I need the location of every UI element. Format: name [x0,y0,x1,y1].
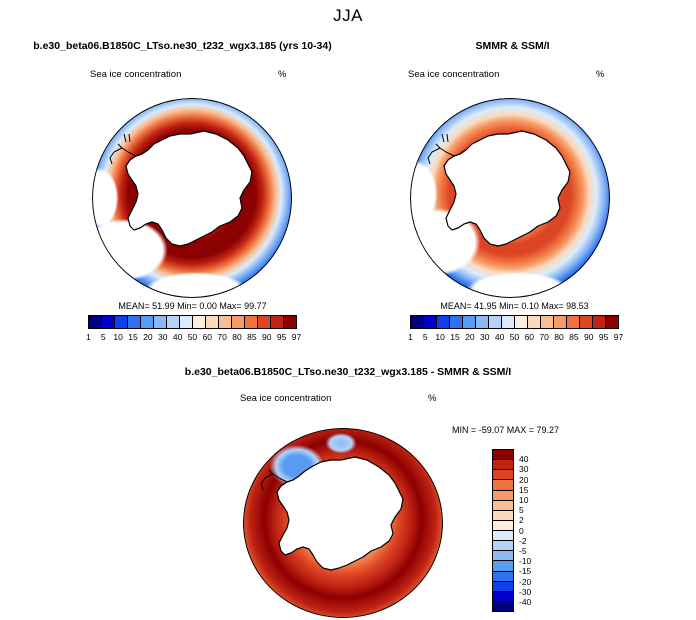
cbar-tick: 60 [200,332,215,342]
cbar-tick: 50 [507,332,522,342]
cbar-tick: -15 [519,567,531,576]
model-panel-title: b.e30_beta06.B1850C_LTso.ne30_t232_wgx3.… [0,40,365,52]
cbar-tick: 95 [274,332,289,342]
cbar-tick: 1 [81,332,96,342]
model-colorbar-ticks: 1 5 10 15 20 30 40 50 60 70 80 85 90 95 … [81,332,304,342]
observations-colorbar-ticks: 1 5 10 15 20 30 40 50 60 70 80 85 90 95 … [403,332,626,342]
cbar-tick: -30 [519,588,531,597]
cbar-tick: 80 [230,332,245,342]
figure-title: JJA [0,6,696,26]
cbar-tick: 50 [185,332,200,342]
cbar-tick: 5 [519,506,524,515]
observations-stats: MEAN= 41.95 Min= 0.10 Max= 98.53 [382,301,647,311]
cbar-tick: 10 [519,496,528,505]
cbar-tick: 20 [462,332,477,342]
observations-antarctica-coastline [410,98,610,298]
difference-units-label: % [428,393,436,404]
observations-panel-title: SMMR & SSM/I [330,40,695,52]
cbar-tick: -5 [519,547,527,556]
cbar-tick: 97 [611,332,626,342]
difference-stats: MIN = -59.07 MAX = 79.27 [452,425,622,435]
cbar-tick: 30 [519,465,528,474]
cbar-tick: 85 [244,332,259,342]
cbar-tick: 85 [566,332,581,342]
cbar-tick: -40 [519,598,531,607]
cbar-tick: 15 [448,332,463,342]
cbar-tick: 80 [552,332,567,342]
cbar-tick: 40 [492,332,507,342]
cbar-tick: -20 [519,578,531,587]
cbar-tick: 5 [96,332,111,342]
cbar-tick: 2 [519,516,524,525]
cbar-tick: 90 [581,332,596,342]
difference-panel-title: b.e30_beta06.B1850C_LTso.ne30_t232_wgx3.… [0,366,696,378]
cbar-tick: 30 [155,332,170,342]
difference-colorbar [492,449,514,612]
model-variable-label: Sea ice concentration [90,69,181,80]
model-map [92,98,292,298]
cbar-tick: 10 [433,332,448,342]
model-units-label: % [278,69,286,80]
cbar-tick: 30 [477,332,492,342]
cbar-tick: 60 [522,332,537,342]
cbar-tick: 0 [519,527,524,536]
cbar-tick: 40 [519,455,528,464]
cbar-tick: 5 [418,332,433,342]
observations-map [410,98,610,298]
cbar-tick: 15 [126,332,141,342]
observations-variable-label: Sea ice concentration [408,69,499,80]
cbar-tick: -2 [519,537,527,546]
cbar-tick: 20 [140,332,155,342]
cbar-tick: 70 [215,332,230,342]
model-antarctica-coastline [92,98,292,298]
cbar-tick: 20 [519,476,528,485]
model-stats: MEAN= 51.99 Min= 0.00 Max= 99.77 [60,301,325,311]
cbar-tick: 10 [111,332,126,342]
observations-units-label: % [596,69,604,80]
cbar-tick: 95 [596,332,611,342]
cbar-tick: 90 [259,332,274,342]
cbar-tick: 97 [289,332,304,342]
cbar-tick: 1 [403,332,418,342]
observations-colorbar [410,315,619,329]
difference-map [243,428,443,618]
cbar-tick: -10 [519,557,531,566]
cbar-tick: 15 [519,486,528,495]
cbar-tick: 40 [170,332,185,342]
model-colorbar [88,315,297,329]
cbar-tick: 70 [537,332,552,342]
difference-variable-label: Sea ice concentration [240,393,331,404]
difference-antarctica-coastline [243,428,443,618]
